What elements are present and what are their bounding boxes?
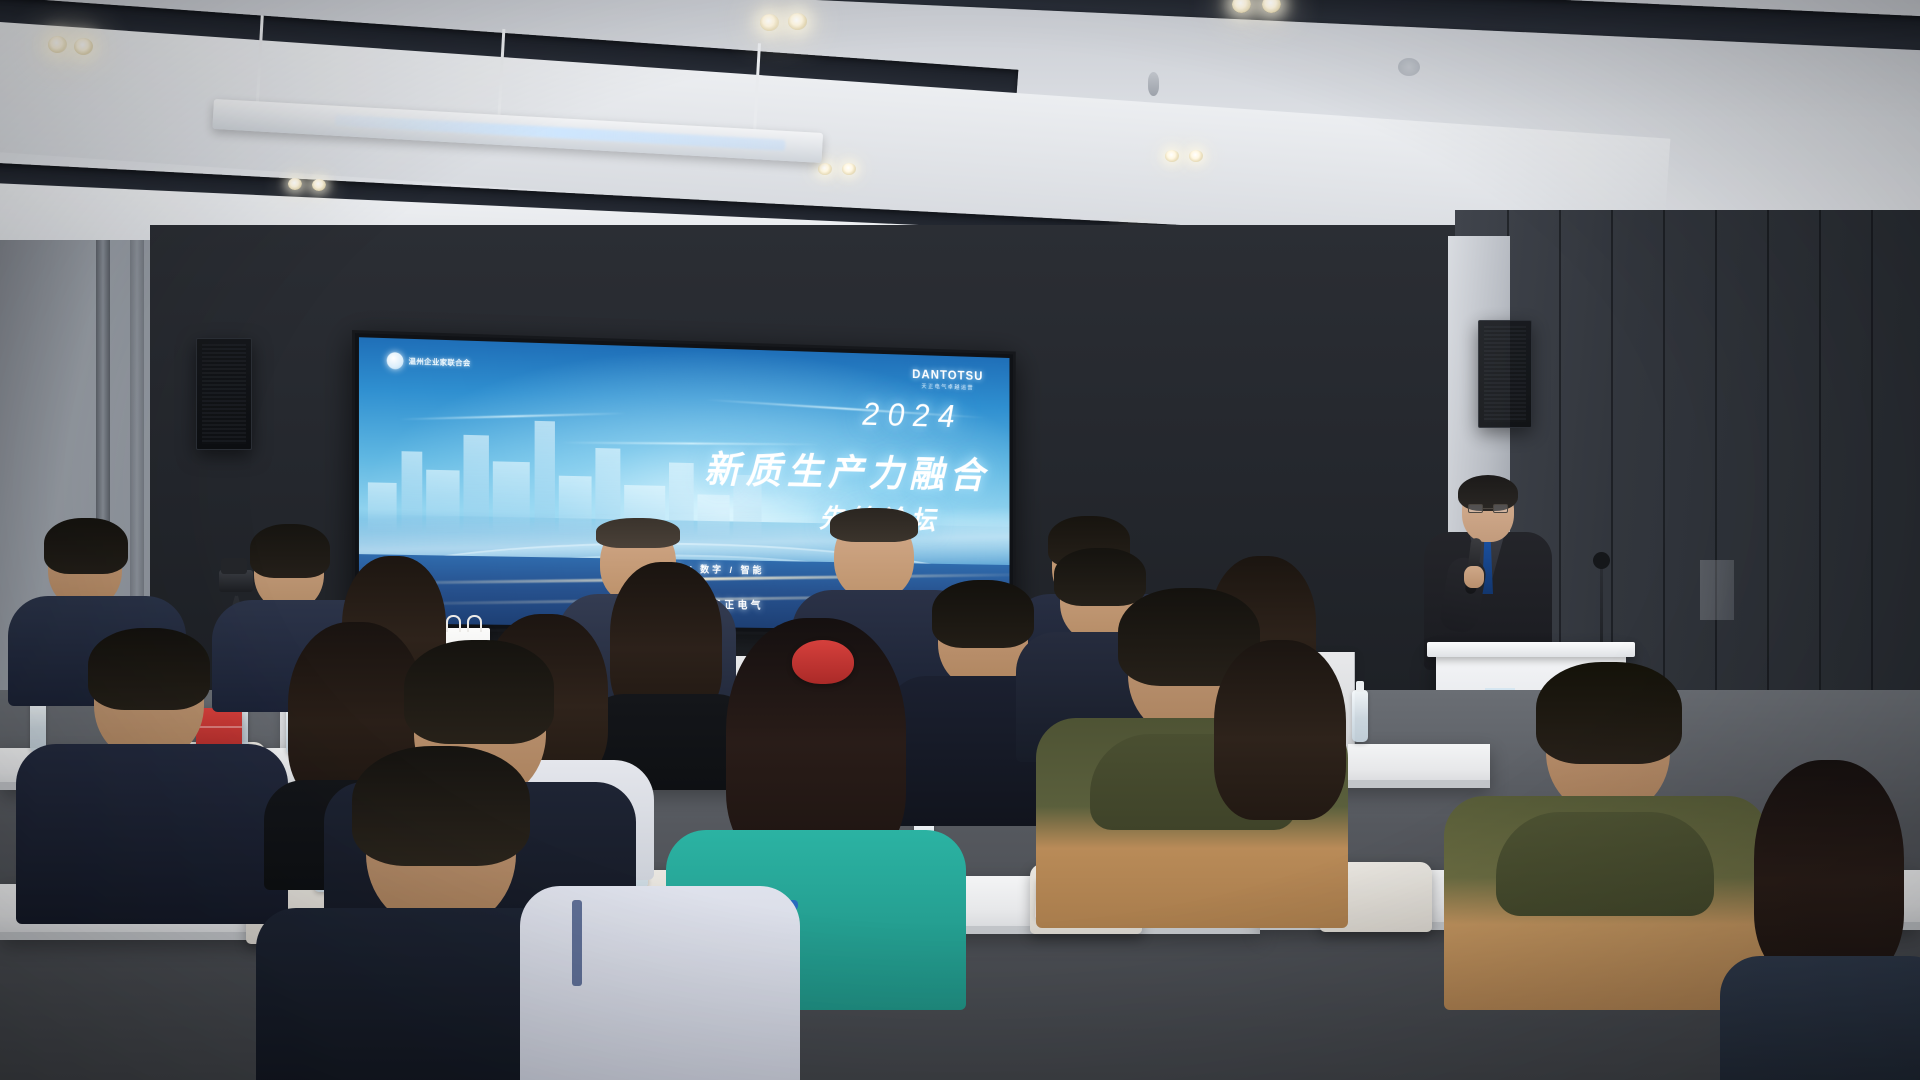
ceiling-spotlight (760, 14, 779, 31)
screen-year: 2024 (862, 396, 962, 435)
brand-name-en: DANTOTSU (912, 367, 983, 383)
ceiling-spotlight (842, 163, 856, 175)
ceiling-spotlight (48, 36, 67, 53)
person-torso (1720, 956, 1920, 1080)
right-loudspeaker (1478, 320, 1532, 428)
presenter-hand (1464, 566, 1484, 588)
audience-member (1740, 760, 1920, 1080)
audience-member (40, 636, 280, 886)
speaker-grille (1484, 326, 1526, 422)
person-hair (44, 518, 128, 574)
ceiling-spotlight (1165, 150, 1179, 162)
person-hair (404, 640, 554, 744)
wall-outlet-plate (1700, 560, 1734, 620)
screen-left-logo-text: 温州企业家联合会 (409, 356, 471, 369)
pendant-rod (497, 29, 505, 117)
jacket-hood (1496, 812, 1714, 916)
pendant-rod (256, 15, 264, 105)
screen-left-logo: 温州企业家联合会 (387, 352, 471, 371)
ceiling-spotlight (1189, 150, 1203, 162)
person-torso (16, 744, 288, 924)
person-light-jacket (520, 886, 800, 1080)
audience-member (520, 826, 780, 1080)
lanyard (572, 900, 582, 986)
person-hair (596, 518, 680, 548)
lectern-top (1427, 642, 1635, 657)
ceiling-spotlight (288, 178, 302, 190)
brand-name-cn: 天正电气卓越运营 (912, 381, 983, 391)
pendant-rod (753, 43, 761, 129)
ceiling-spotlight (74, 38, 93, 55)
ceiling-spotlight (312, 179, 326, 191)
screen-right-logo: DANTOTSU 天正电气卓越运营 (912, 367, 983, 391)
speaker-grille (202, 344, 246, 444)
ceiling-spotlight (788, 13, 807, 30)
person-long-hair (1214, 640, 1346, 820)
person-hair (1536, 662, 1682, 764)
person-long-hair (1754, 760, 1904, 980)
person-hair (932, 580, 1034, 648)
ceiling-smoke-detector (1398, 58, 1420, 76)
person-hair (352, 746, 530, 866)
person-hair (830, 508, 918, 542)
conference-photo: 温州企业家联合会 DANTOTSU 天正电气卓越运营 2024 新质生产力融合 … (0, 0, 1920, 1080)
person-hair (88, 628, 210, 710)
audience-member (1196, 640, 1376, 870)
left-loudspeaker (196, 338, 252, 450)
audience-member (1480, 674, 1730, 974)
red-hair-bow (792, 640, 854, 684)
ceiling-sprinkler (1148, 72, 1159, 96)
screen-title: 新质生产力融合 (704, 439, 989, 499)
eyeglasses-icon (1468, 504, 1508, 514)
circular-emblem-icon (387, 352, 404, 369)
